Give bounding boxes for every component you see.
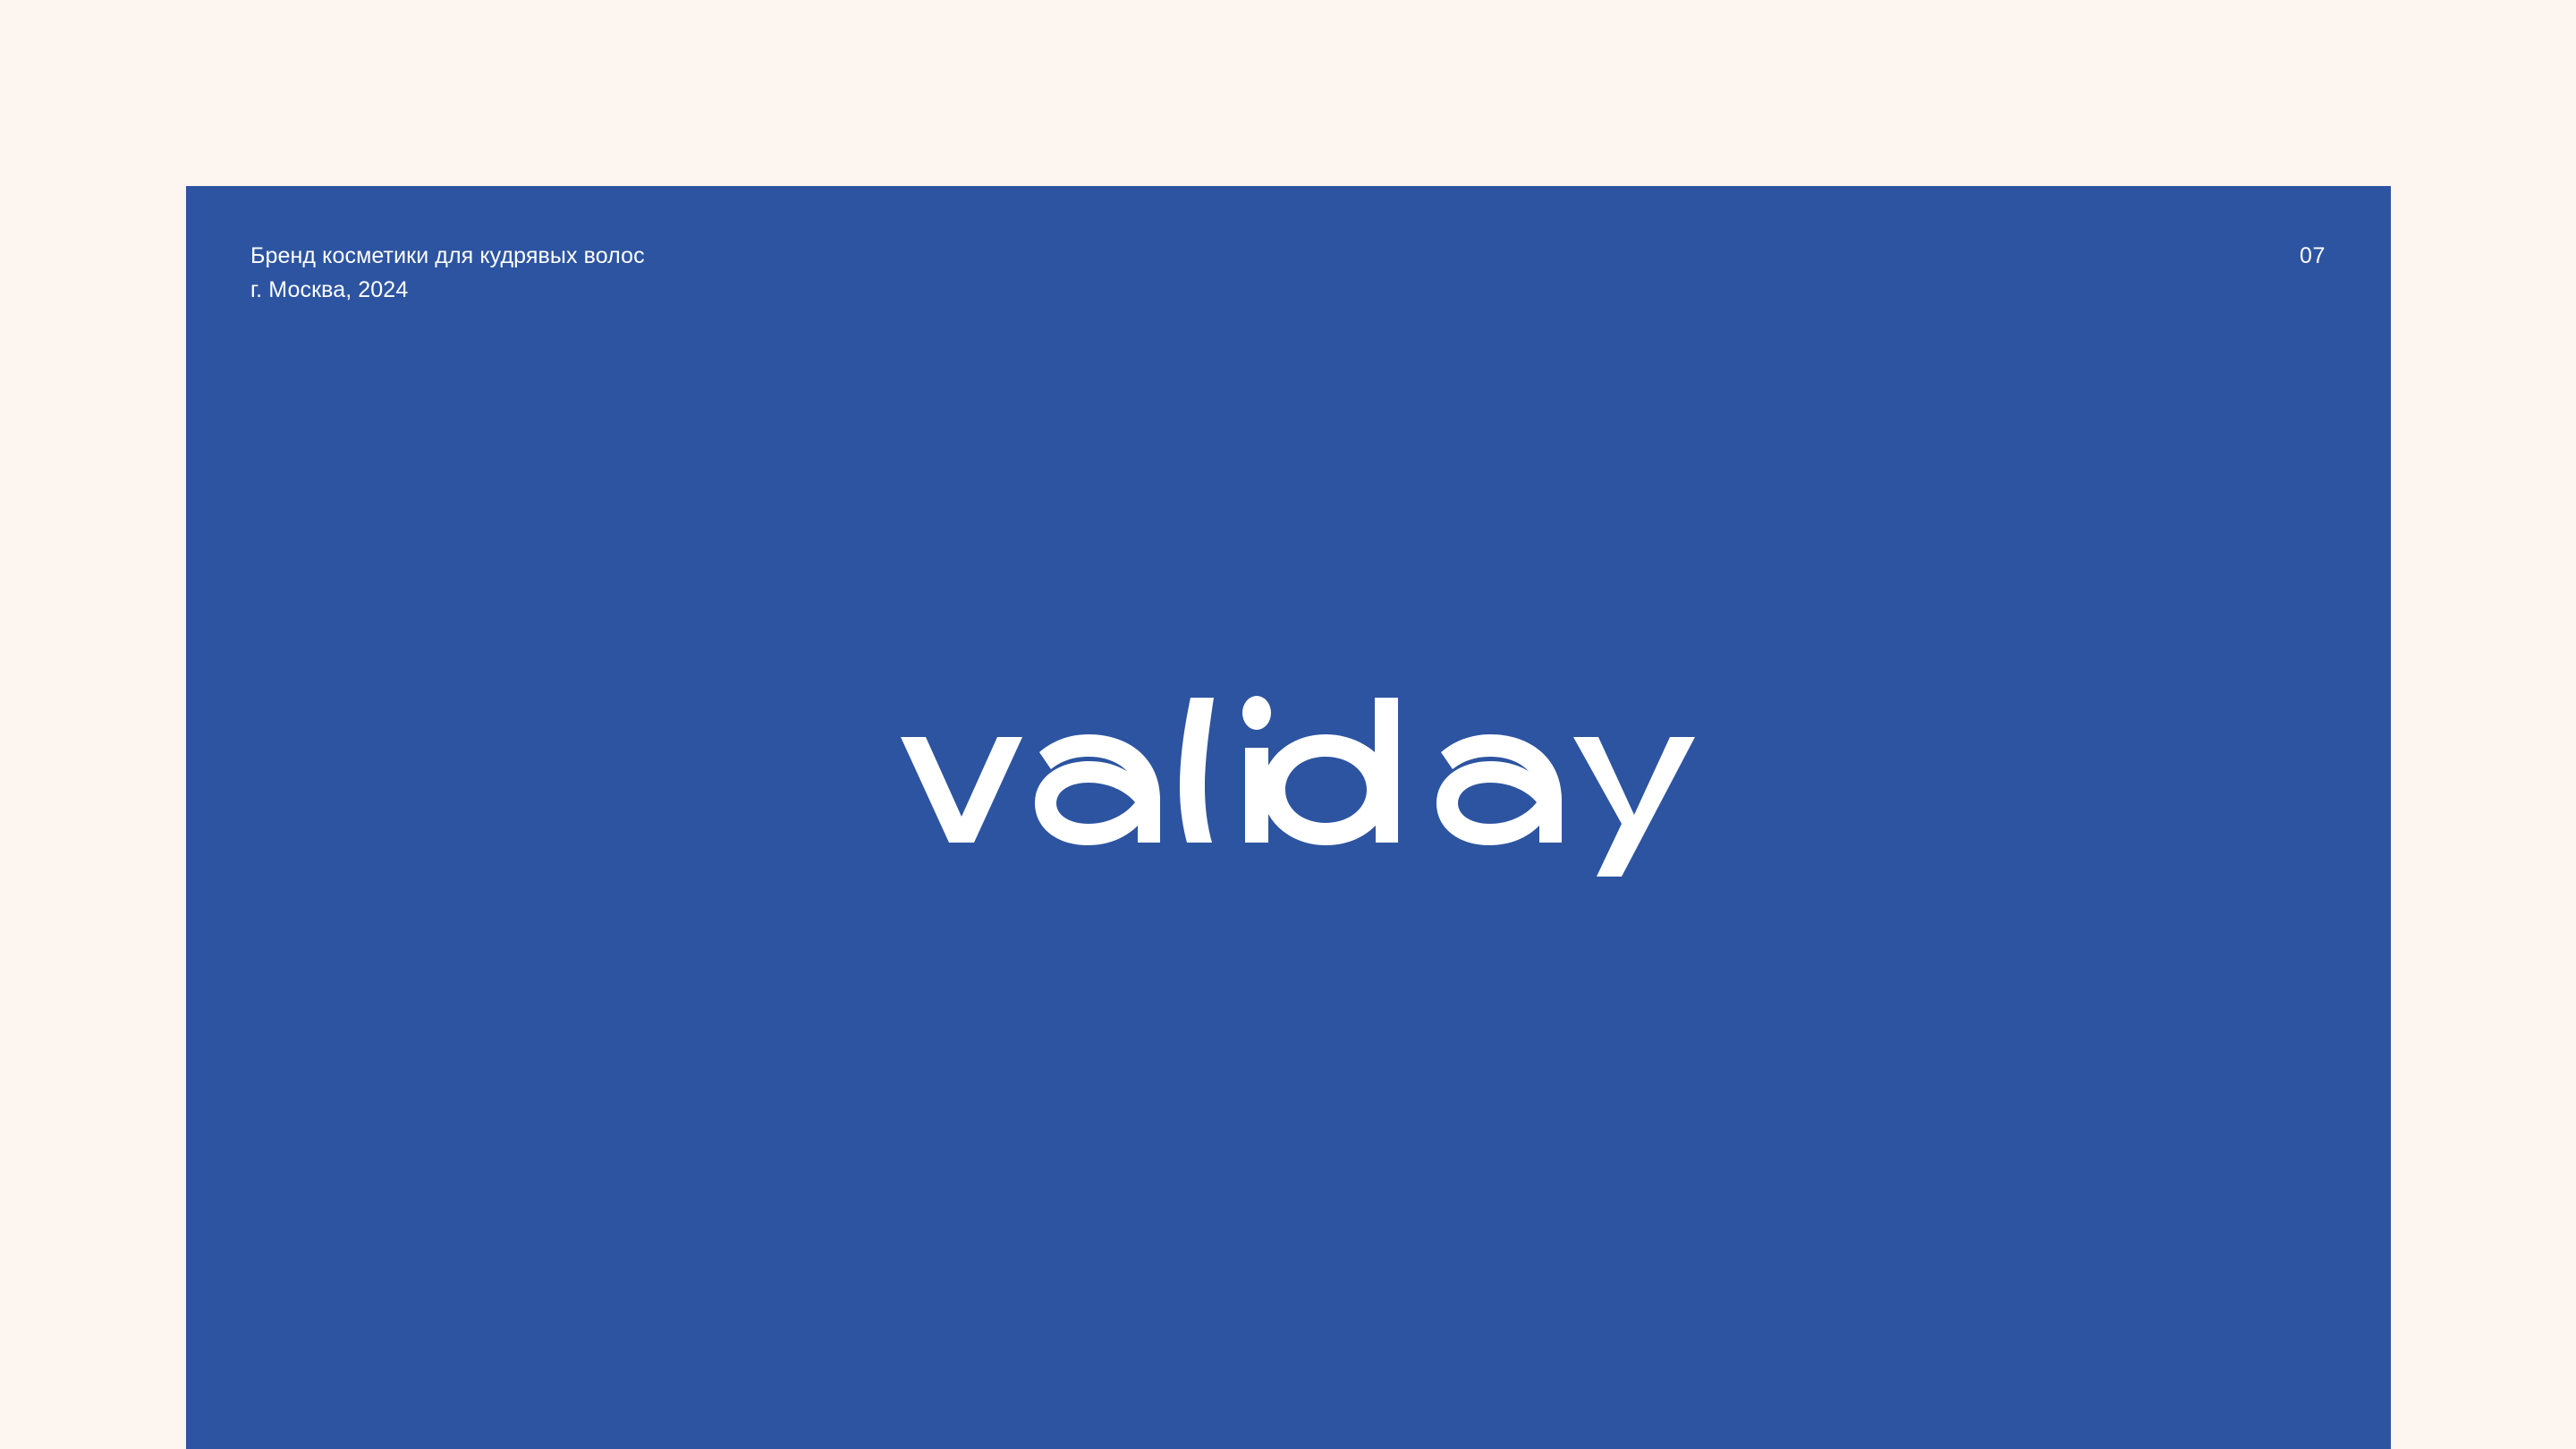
project-description: Бренд косметики для кудрявых волос: [250, 241, 645, 272]
slide-header: Бренд косметики для кудрявых волос г. Мо…: [250, 241, 2326, 305]
slide-panel: Бренд косметики для кудрявых волос г. Мо…: [186, 186, 2391, 1449]
project-meta: Бренд косметики для кудрявых волос г. Мо…: [250, 241, 645, 305]
logo-stage: [186, 186, 2391, 1388]
validay-wordmark-logo: [895, 698, 1682, 877]
page-number: 07: [2300, 241, 2326, 272]
project-location-year: г. Москва, 2024: [250, 275, 645, 306]
slide-page: Бренд косметики для кудрявых волос г. Мо…: [0, 0, 2576, 1449]
